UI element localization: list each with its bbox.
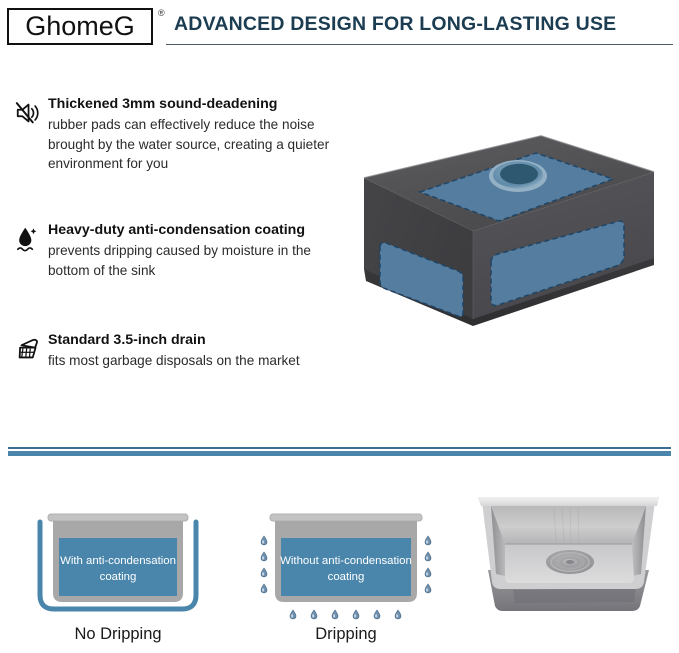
water-drop-icon	[14, 224, 44, 254]
sink-drain	[546, 550, 594, 574]
sink-label-line2: coating	[100, 571, 137, 583]
brand-logo-text: GhomeG	[25, 13, 135, 40]
comparison-panel-without-coating: Without anti-condensation coating	[232, 470, 460, 653]
brand-logo: GhomeG	[7, 8, 153, 45]
section-divider-thin-line	[8, 447, 671, 449]
sink-label-line1: Without anti-condensation	[280, 555, 412, 567]
page-title: ADVANCED DESIGN FOR LONG-LASTING USE	[174, 13, 616, 36]
sink-underside-3d-illustration	[358, 128, 670, 333]
drain-hole	[489, 160, 547, 192]
sink-label-line1: With anti-condensation	[60, 555, 176, 567]
comparison-panel-with-coating: With anti-condensation coating No Drippi…	[4, 470, 232, 653]
droplets-left	[261, 536, 267, 593]
sink-label-line2: coating	[328, 571, 365, 583]
feature-text-block: Heavy-duty anti-condensation coating pre…	[48, 222, 348, 280]
sink-cross-section-with-coating: With anti-condensation coating	[28, 500, 208, 625]
feature-body: fits most garbage disposals on the marke…	[48, 351, 348, 371]
muted-speaker-icon	[14, 98, 44, 128]
panel-caption-no-dripping: No Dripping	[4, 625, 232, 644]
droplets-right	[425, 536, 431, 593]
feature-body: rubber pads can effectively reduce the n…	[48, 115, 348, 175]
feature-title: Heavy-duty anti-condensation coating	[48, 222, 348, 240]
feature-text-block: Thickened 3mm sound-deadening rubber pad…	[48, 96, 348, 174]
page-header: GhomeG ® ADVANCED DESIGN FOR LONG-LASTIN…	[0, 0, 679, 58]
section-divider-thick-bar	[8, 451, 671, 456]
registered-trademark-symbol: ®	[158, 8, 165, 18]
comparison-panel-product-photo	[458, 470, 679, 653]
drain-strainer-icon	[14, 334, 44, 364]
panel-caption-dripping: Dripping	[232, 625, 460, 644]
feature-title: Standard 3.5-inch drain	[48, 332, 348, 350]
feature-body: prevents dripping caused by moisture in …	[48, 241, 348, 281]
header-divider-rule	[166, 44, 673, 45]
feature-text-block: Standard 3.5-inch drain fits most garbag…	[48, 332, 348, 371]
feature-title: Thickened 3mm sound-deadening	[48, 96, 348, 114]
sink-cross-section-without-coating: Without anti-condensation coating	[256, 500, 436, 625]
stainless-steel-sink-photo	[458, 478, 679, 618]
droplets-bottom	[290, 610, 401, 619]
